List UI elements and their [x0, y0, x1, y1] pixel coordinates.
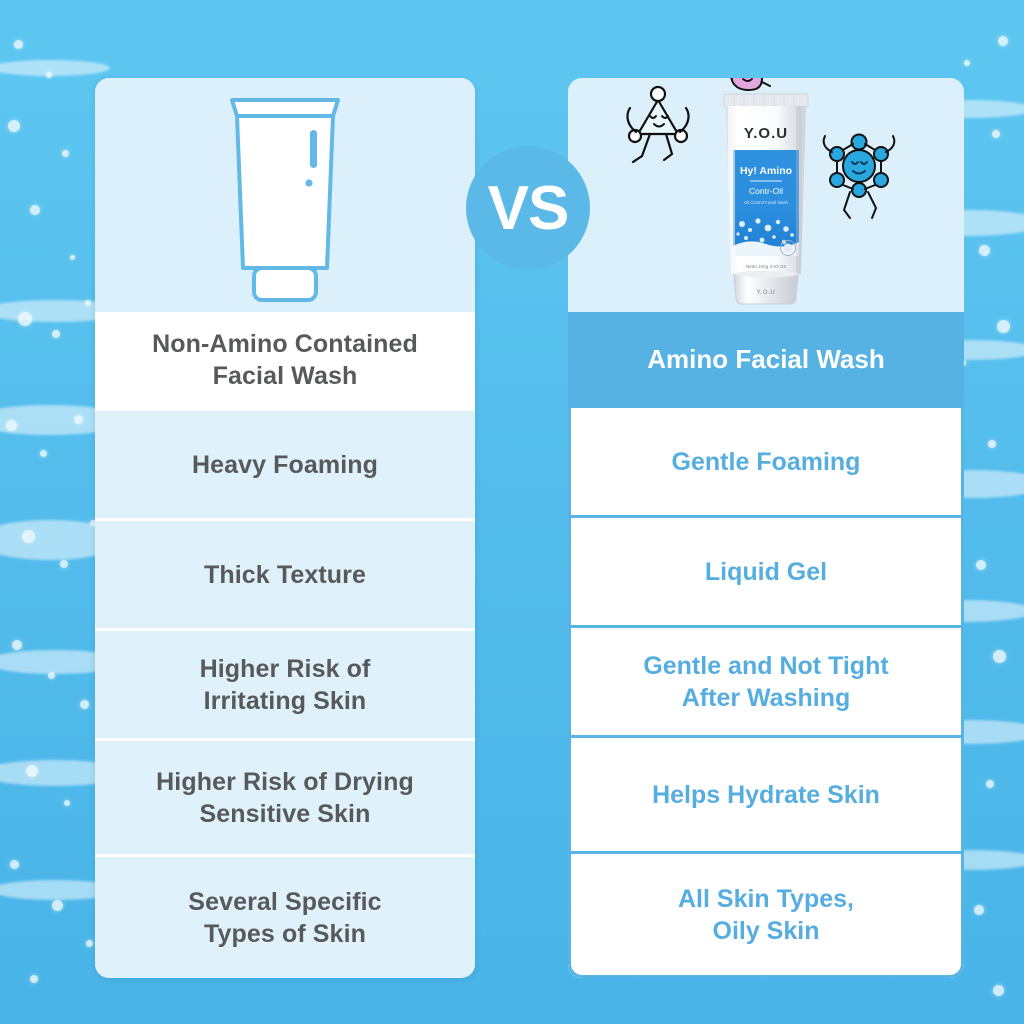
- table-row: Higher Risk of Irritating Skin: [95, 628, 475, 738]
- right-header-row: Amino Facial Wash: [568, 312, 964, 408]
- table-row: Thick Texture: [95, 518, 475, 628]
- row-line1: Heavy Foaming: [192, 449, 378, 481]
- row-line1: All Skin Types,: [678, 883, 854, 915]
- svg-text:Y.O.U: Y.O.U: [744, 125, 788, 142]
- left-hero-panel: [95, 78, 475, 312]
- right-hero-panel: Y.O.U Hy! Amino Contr-Oil Oil Control Fa…: [568, 78, 964, 312]
- row-line2: Oily Skin: [678, 915, 854, 947]
- row-line1: Liquid Gel: [705, 556, 827, 588]
- table-row: Helps Hydrate Skin: [568, 738, 964, 854]
- svg-text:Y.O.U: Y.O.U: [757, 290, 776, 296]
- row-line1: Higher Risk of Drying: [156, 766, 414, 798]
- table-row: Gentle Foaming: [568, 408, 964, 518]
- row-line1: Higher Risk of: [200, 653, 371, 685]
- left-rows: Non-Amino Contained Facial Wash Heavy Fo…: [95, 312, 475, 978]
- vs-badge-label: VS: [488, 173, 569, 244]
- triangle-character-doodle-icon: [620, 82, 700, 168]
- comparison-card-amino: Y.O.U Hy! Amino Contr-Oil Oil Control Fa…: [568, 78, 964, 978]
- product-tube-image: Y.O.U Hy! Amino Contr-Oil Oil Control Fa…: [712, 88, 820, 310]
- table-row: All Skin Types, Oily Skin: [568, 854, 964, 978]
- row-line2: After Washing: [643, 682, 888, 714]
- row-line1: Several Specific: [188, 886, 381, 918]
- right-rows: Amino Facial Wash Gentle Foaming Liquid …: [568, 312, 964, 978]
- comparison-card-non-amino: Non-Amino Contained Facial Wash Heavy Fo…: [95, 78, 475, 978]
- row-line1: Thick Texture: [204, 559, 366, 591]
- vs-badge: VS: [466, 146, 590, 270]
- table-row: Heavy Foaming: [95, 408, 475, 518]
- row-line1: Helps Hydrate Skin: [652, 779, 880, 811]
- svg-text:Oil Control Facial Wash: Oil Control Facial Wash: [744, 200, 788, 205]
- svg-text:Hy! Amino: Hy! Amino: [740, 165, 792, 177]
- table-row: Gentle and Not Tight After Washing: [568, 628, 964, 738]
- facial-wash-tube-outline-icon: [210, 90, 360, 305]
- row-line1: Gentle and Not Tight: [643, 650, 888, 682]
- molecule-character-doodle-icon: [816, 130, 902, 222]
- table-row: Liquid Gel: [568, 518, 964, 628]
- foam-texture-left: [0, 0, 105, 1024]
- left-header-line1: Non-Amino Contained: [152, 328, 418, 360]
- left-header-row: Non-Amino Contained Facial Wash: [95, 312, 475, 408]
- row-line2: Irritating Skin: [200, 685, 371, 717]
- row-line2: Types of Skin: [188, 918, 381, 950]
- left-header-line2: Facial Wash: [152, 360, 418, 392]
- table-row: Higher Risk of Drying Sensitive Skin: [95, 738, 475, 854]
- svg-text:Contr-Oil: Contr-Oil: [749, 186, 783, 196]
- infographic-canvas: Non-Amino Contained Facial Wash Heavy Fo…: [0, 0, 1024, 1024]
- table-row: Several Specific Types of Skin: [95, 854, 475, 978]
- row-line2: Sensitive Skin: [156, 798, 414, 830]
- row-line1: Gentle Foaming: [672, 446, 861, 478]
- svg-text:Netto 100g 3.53 OZ: Netto 100g 3.53 OZ: [746, 264, 787, 269]
- right-header-label: Amino Facial Wash: [647, 343, 884, 376]
